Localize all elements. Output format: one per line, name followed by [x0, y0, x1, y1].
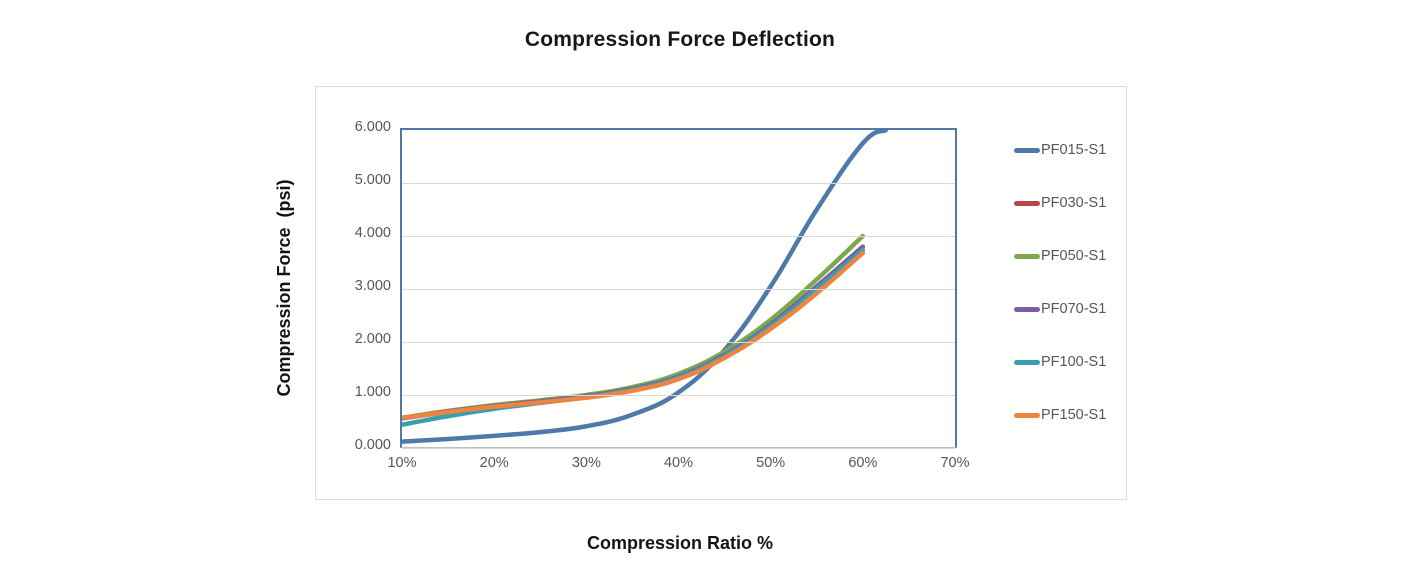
y-tick-label: 1.000	[335, 384, 391, 400]
plot-area	[400, 128, 957, 448]
legend-item-label: PF050-S1	[1041, 248, 1106, 264]
x-tick-label: 40%	[649, 455, 709, 471]
gridline	[402, 395, 955, 396]
legend-item-label: PF100-S1	[1041, 354, 1106, 370]
x-tick-label: 10%	[372, 455, 432, 471]
legend-item[interactable]: PF070-S1	[1014, 299, 1134, 319]
y-tick-label: 6.000	[335, 119, 391, 135]
chart-legend: PF015-S1PF030-S1PF050-S1PF070-S1PF100-S1…	[1014, 140, 1134, 440]
gridline	[402, 448, 955, 449]
x-tick-label: 60%	[833, 455, 893, 471]
x-axis-tick-labels: 10%20%30%40%50%60%70%	[0, 455, 1408, 479]
series-line	[402, 253, 863, 418]
legend-item[interactable]: PF015-S1	[1014, 140, 1134, 160]
gridline	[402, 342, 955, 343]
legend-swatch-icon	[1014, 254, 1040, 259]
legend-item-label: PF030-S1	[1041, 195, 1106, 211]
legend-swatch-icon	[1014, 360, 1040, 365]
y-axis-tick-labels: 0.0001.0002.0003.0004.0005.0006.000	[335, 0, 391, 576]
gridline	[402, 236, 955, 237]
chart-canvas: Compression Force Deflection Compression…	[0, 0, 1408, 576]
legend-swatch-icon	[1014, 307, 1040, 312]
x-tick-label: 20%	[464, 455, 524, 471]
page-title: Compression Force Deflection	[0, 28, 1360, 52]
legend-swatch-icon	[1014, 148, 1040, 153]
legend-item-label: PF015-S1	[1041, 142, 1106, 158]
legend-item[interactable]: PF100-S1	[1014, 352, 1134, 372]
legend-swatch-icon	[1014, 201, 1040, 206]
legend-item-label: PF150-S1	[1041, 407, 1106, 423]
gridline	[402, 183, 955, 184]
y-tick-label: 5.000	[335, 172, 391, 188]
series-line	[402, 253, 863, 418]
x-tick-label: 70%	[925, 455, 985, 471]
series-line	[402, 250, 863, 425]
legend-item-label: PF070-S1	[1041, 301, 1106, 317]
x-axis-title: Compression Ratio %	[350, 533, 1010, 554]
x-tick-label: 30%	[556, 455, 616, 471]
x-tick-label: 50%	[741, 455, 801, 471]
y-tick-label: 2.000	[335, 331, 391, 347]
legend-item[interactable]: PF030-S1	[1014, 193, 1134, 213]
legend-item[interactable]: PF150-S1	[1014, 405, 1134, 425]
y-tick-label: 0.000	[335, 437, 391, 453]
y-tick-label: 3.000	[335, 278, 391, 294]
gridline	[402, 289, 955, 290]
y-tick-label: 4.000	[335, 225, 391, 241]
y-axis-title: Compression Force (psi)	[274, 128, 300, 448]
legend-item[interactable]: PF050-S1	[1014, 246, 1134, 266]
legend-swatch-icon	[1014, 413, 1040, 418]
